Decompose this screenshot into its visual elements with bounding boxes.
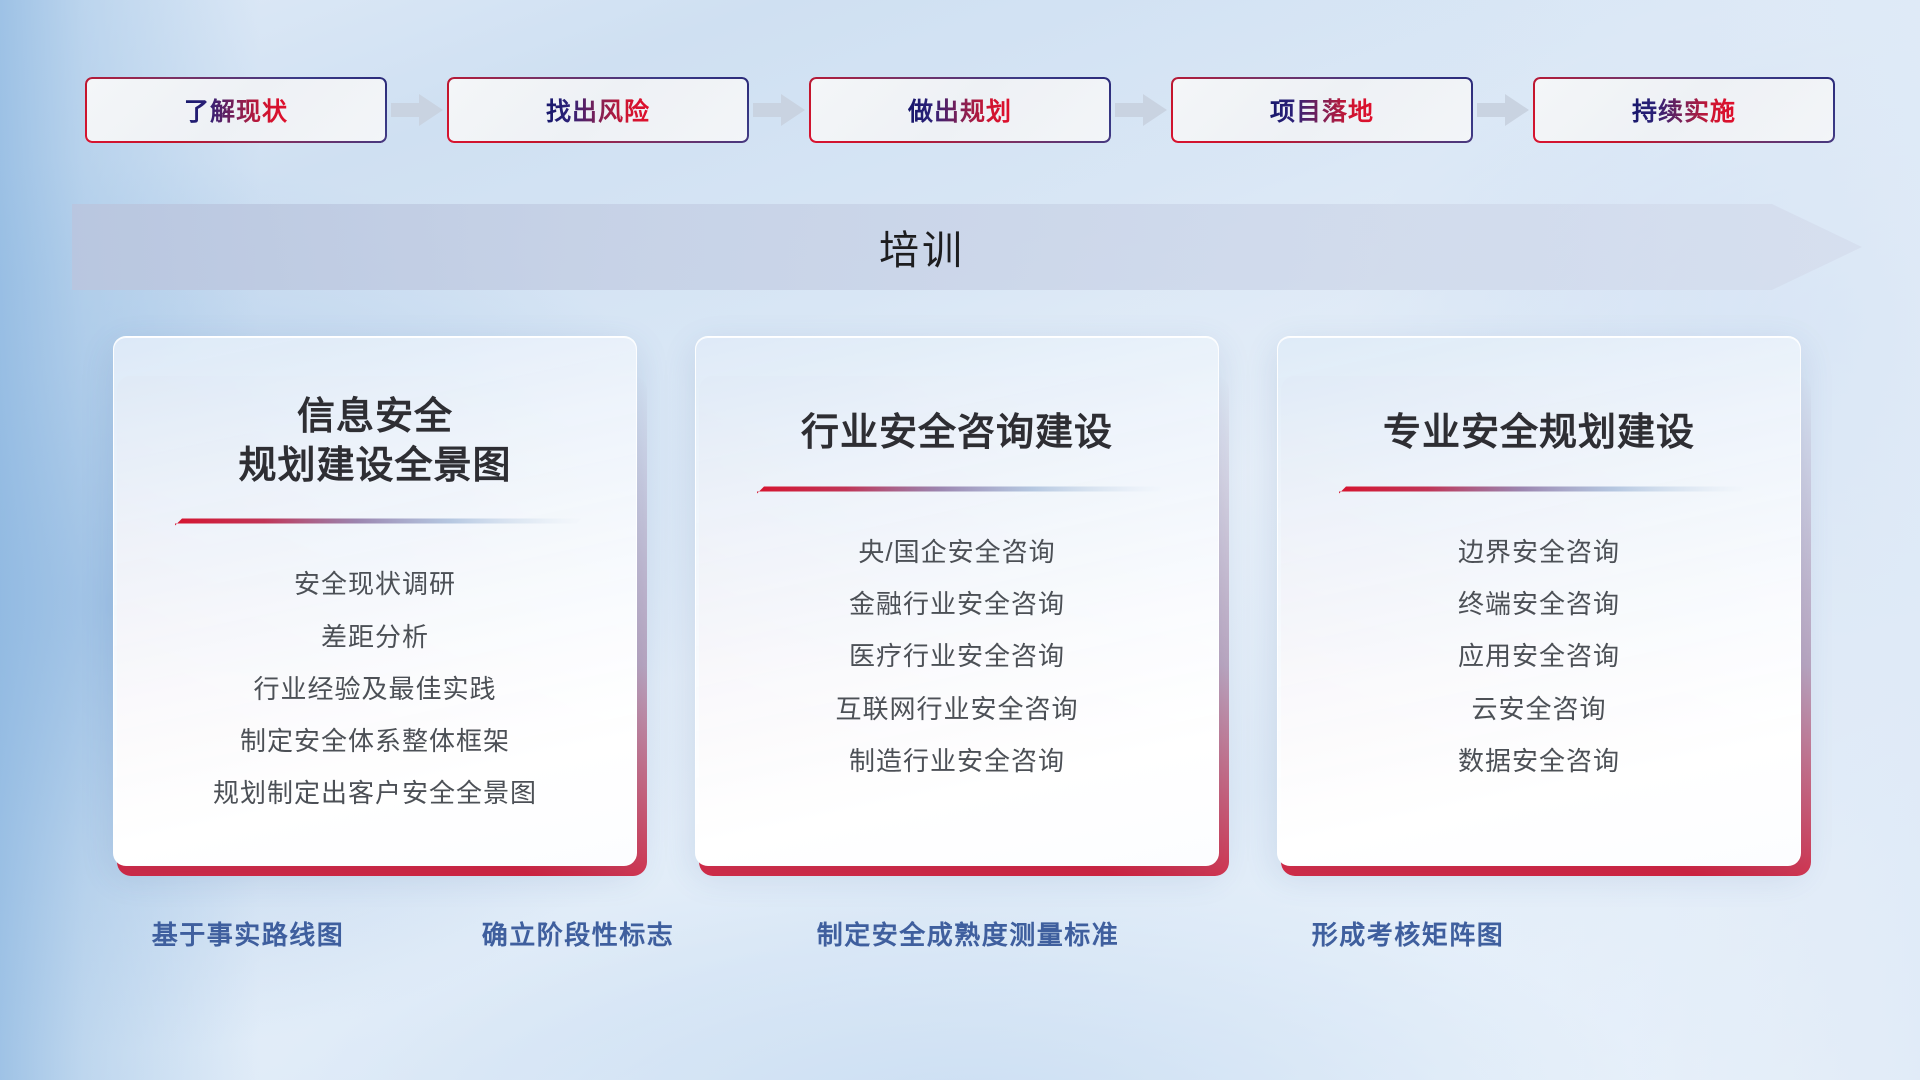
training-banner: 培训 <box>72 204 1862 290</box>
slide-canvas: 了解现状 找出风险 做出规划 项目落地 持续实施 <box>0 0 1920 1080</box>
step-label-4: 项目落地 <box>1270 92 1374 128</box>
card-list-1: 安全现状调研 差距分析 行业经验及最佳实践 制定安全体系整体框架 规划制定出客户… <box>150 564 600 813</box>
step-arrow-icon-3 <box>1111 93 1171 127</box>
list-item: 行业经验及最佳实践 <box>253 669 496 709</box>
footer-label-2: 确立阶段性标志 <box>482 915 675 952</box>
card-divider-2 <box>751 484 1163 498</box>
footer-label-4: 形成考核矩阵图 <box>1312 915 1505 952</box>
card-list-3: 边界安全咨询 终端安全咨询 应用安全咨询 云安全咨询 数据安全咨询 <box>1314 532 1764 781</box>
step-label-3: 做出规划 <box>908 92 1012 128</box>
step-box-4[interactable]: 项目落地 <box>1171 77 1473 143</box>
step-label-5: 持续实施 <box>1632 92 1736 128</box>
step-arrow-icon-1 <box>387 93 447 127</box>
step-label-2: 找出风险 <box>546 92 650 128</box>
list-item: 差距分析 <box>321 617 429 657</box>
step-box-1[interactable]: 了解现状 <box>85 77 387 143</box>
step-arrow-icon-4 <box>1473 93 1533 127</box>
card-2[interactable]: 行业安全咨询建设 <box>695 336 1219 866</box>
card-3[interactable]: 专业安全规划建设 <box>1277 336 1801 866</box>
step-label-1: 了解现状 <box>184 92 288 128</box>
card-row: 信息安全 规划建设全景图 <box>0 336 1920 888</box>
list-item: 终端安全咨询 <box>1458 584 1620 624</box>
card-divider-3 <box>1333 484 1745 498</box>
list-item: 云安全咨询 <box>1471 689 1606 729</box>
footer-label-row: 基于事实路线图 确立阶段性标志 制定安全成熟度测量标准 形成考核矩阵图 <box>0 915 1920 961</box>
card-title-3: 专业安全规划建设 <box>1383 409 1695 458</box>
training-banner-label: 培训 <box>72 204 1772 290</box>
step-arrow-icon-2 <box>749 93 809 127</box>
list-item: 规划制定出客户安全全景图 <box>213 773 537 813</box>
list-item: 央/国企安全咨询 <box>858 532 1055 572</box>
list-item: 医疗行业安全咨询 <box>849 636 1065 676</box>
list-item: 数据安全咨询 <box>1458 741 1620 781</box>
card-divider-1 <box>169 516 581 530</box>
card-wrapper-3: 专业安全规划建设 <box>1277 336 1807 888</box>
list-item: 边界安全咨询 <box>1458 532 1620 572</box>
card-1[interactable]: 信息安全 规划建设全景图 <box>113 336 637 866</box>
list-item: 安全现状调研 <box>294 564 456 604</box>
gradient-underline-icon <box>751 484 1163 498</box>
card-wrapper-1: 信息安全 规划建设全景图 <box>113 336 643 888</box>
card-title-1: 信息安全 规划建设全景图 <box>238 393 511 490</box>
card-title-2: 行业安全咨询建设 <box>801 409 1113 458</box>
card-wrapper-2: 行业安全咨询建设 <box>695 336 1225 888</box>
gradient-underline-icon <box>169 516 581 530</box>
gradient-underline-icon <box>1333 484 1745 498</box>
step-box-3[interactable]: 做出规划 <box>809 77 1111 143</box>
footer-label-1: 基于事实路线图 <box>152 915 345 952</box>
list-item: 制定安全体系整体框架 <box>240 721 510 761</box>
process-step-row: 了解现状 找出风险 做出规划 项目落地 持续实施 <box>0 76 1920 144</box>
list-item: 应用安全咨询 <box>1458 636 1620 676</box>
list-item: 制造行业安全咨询 <box>849 741 1065 781</box>
list-item: 金融行业安全咨询 <box>849 584 1065 624</box>
list-item: 互联网行业安全咨询 <box>835 689 1078 729</box>
step-box-2[interactable]: 找出风险 <box>447 77 749 143</box>
footer-label-3: 制定安全成熟度测量标准 <box>817 915 1120 952</box>
card-list-2: 央/国企安全咨询 金融行业安全咨询 医疗行业安全咨询 互联网行业安全咨询 制造行… <box>732 532 1182 781</box>
step-box-5[interactable]: 持续实施 <box>1533 77 1835 143</box>
